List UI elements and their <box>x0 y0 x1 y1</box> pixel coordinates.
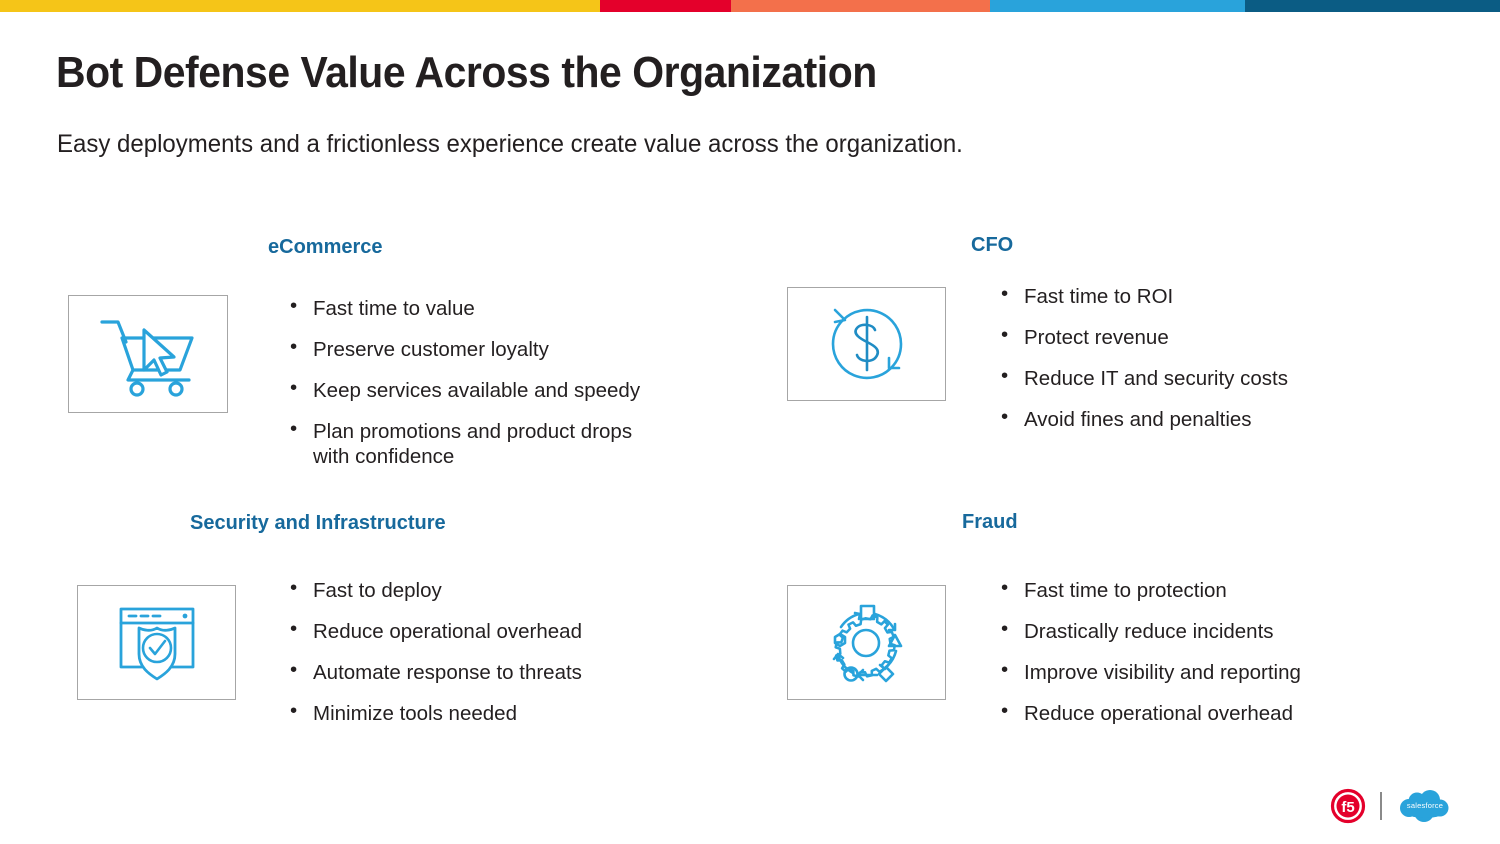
bullet-text: Reduce operational overhead <box>1024 701 1379 726</box>
icon-frame-ecommerce <box>68 295 228 413</box>
color-bar-segment-red <box>600 0 731 12</box>
color-bar-segment-navy <box>1245 0 1500 12</box>
bullet-dot-icon: • <box>290 296 297 317</box>
page-title: Bot Defense Value Across the Organizatio… <box>56 48 877 98</box>
bullet-text: Fast time to ROI <box>1024 284 1359 309</box>
bullet-text: Fast time to protection <box>1024 578 1379 603</box>
dollar-refresh-cycle-icon <box>817 298 917 390</box>
list-item: •Protect revenue <box>999 325 1359 350</box>
bullet-text: Plan promotions and product drops with c… <box>313 419 668 469</box>
list-item: •Reduce IT and security costs <box>999 366 1359 391</box>
bullet-dot-icon: • <box>1001 619 1008 640</box>
section-heading-cfo: CFO <box>971 234 1013 257</box>
logo-divider <box>1380 792 1382 820</box>
f5-logo: f5 <box>1330 788 1366 824</box>
bullet-dot-icon: • <box>290 337 297 358</box>
bullet-list-ecommerce: •Fast time to value •Preserve customer l… <box>288 296 668 485</box>
bullet-dot-icon: • <box>290 378 297 399</box>
bullet-dot-icon: • <box>290 419 297 440</box>
brand-color-bar <box>0 0 1500 12</box>
bullet-dot-icon: • <box>1001 660 1008 681</box>
list-item: •Plan promotions and product drops with … <box>288 419 668 469</box>
bullet-text: Drastically reduce incidents <box>1024 619 1379 644</box>
bullet-list-cfo: •Fast time to ROI •Protect revenue •Redu… <box>999 284 1359 448</box>
bullet-dot-icon: • <box>1001 284 1008 305</box>
page-subtitle: Easy deployments and a frictionless expe… <box>57 130 963 159</box>
bullet-dot-icon: • <box>1001 578 1008 599</box>
color-bar-segment-yellow <box>0 0 600 12</box>
bullet-text: Avoid fines and penalties <box>1024 407 1359 432</box>
color-bar-segment-blue <box>990 0 1245 12</box>
bullet-text: Reduce operational overhead <box>313 619 668 644</box>
list-item: •Drastically reduce incidents <box>999 619 1379 644</box>
section-heading-ecommerce: eCommerce <box>268 236 383 259</box>
bullet-text: Improve visibility and reporting <box>1024 660 1379 685</box>
bullet-dot-icon: • <box>1001 701 1008 722</box>
list-item: •Fast time to ROI <box>999 284 1359 309</box>
list-item: •Reduce operational overhead <box>999 701 1379 726</box>
shopping-cart-cursor-icon <box>88 308 208 400</box>
bullet-list-security: •Fast to deploy •Reduce operational over… <box>288 578 668 742</box>
icon-frame-fraud <box>787 585 946 700</box>
bullet-dot-icon: • <box>290 619 297 640</box>
bullet-dot-icon: • <box>290 701 297 722</box>
bullet-dot-icon: • <box>1001 325 1008 346</box>
bullet-text: Keep services available and speedy <box>313 378 668 403</box>
salesforce-logo: salesforce <box>1396 786 1456 826</box>
salesforce-logo-wordmark: salesforce <box>1407 801 1443 810</box>
bullet-text: Minimize tools needed <box>313 701 668 726</box>
bullet-dot-icon: • <box>1001 407 1008 428</box>
list-item: •Fast to deploy <box>288 578 668 603</box>
bullet-text: Fast time to value <box>313 296 668 321</box>
bullet-text: Reduce IT and security costs <box>1024 366 1359 391</box>
bullet-text: Protect revenue <box>1024 325 1359 350</box>
section-heading-security: Security and Infrastructure <box>190 512 446 535</box>
list-item: •Automate response to threats <box>288 660 668 685</box>
bullet-list-fraud: •Fast time to protection •Drastically re… <box>999 578 1379 742</box>
bullet-text: Automate response to threats <box>313 660 668 685</box>
icon-frame-cfo <box>787 287 946 401</box>
footer-logo-lockup: f5 salesforce <box>1330 786 1456 826</box>
f5-logo-wordmark: f5 <box>1341 799 1354 816</box>
list-item: •Keep services available and speedy <box>288 378 668 403</box>
list-item: •Fast time to protection <box>999 578 1379 603</box>
list-item: •Avoid fines and penalties <box>999 407 1359 432</box>
list-item: •Reduce operational overhead <box>288 619 668 644</box>
icon-frame-security <box>77 585 236 700</box>
color-bar-segment-orange <box>731 0 990 12</box>
browser-shield-check-icon <box>105 597 209 689</box>
section-heading-fraud: Fraud <box>962 511 1018 534</box>
list-item: •Improve visibility and reporting <box>999 660 1379 685</box>
list-item: •Fast time to value <box>288 296 668 321</box>
bullet-dot-icon: • <box>290 660 297 681</box>
bullet-text: Fast to deploy <box>313 578 668 603</box>
list-item: •Preserve customer loyalty <box>288 337 668 362</box>
bullet-text: Preserve customer loyalty <box>313 337 668 362</box>
list-item: •Minimize tools needed <box>288 701 668 726</box>
gear-automation-cycle-icon <box>817 597 917 689</box>
bullet-dot-icon: • <box>290 578 297 599</box>
bullet-dot-icon: • <box>1001 366 1008 387</box>
